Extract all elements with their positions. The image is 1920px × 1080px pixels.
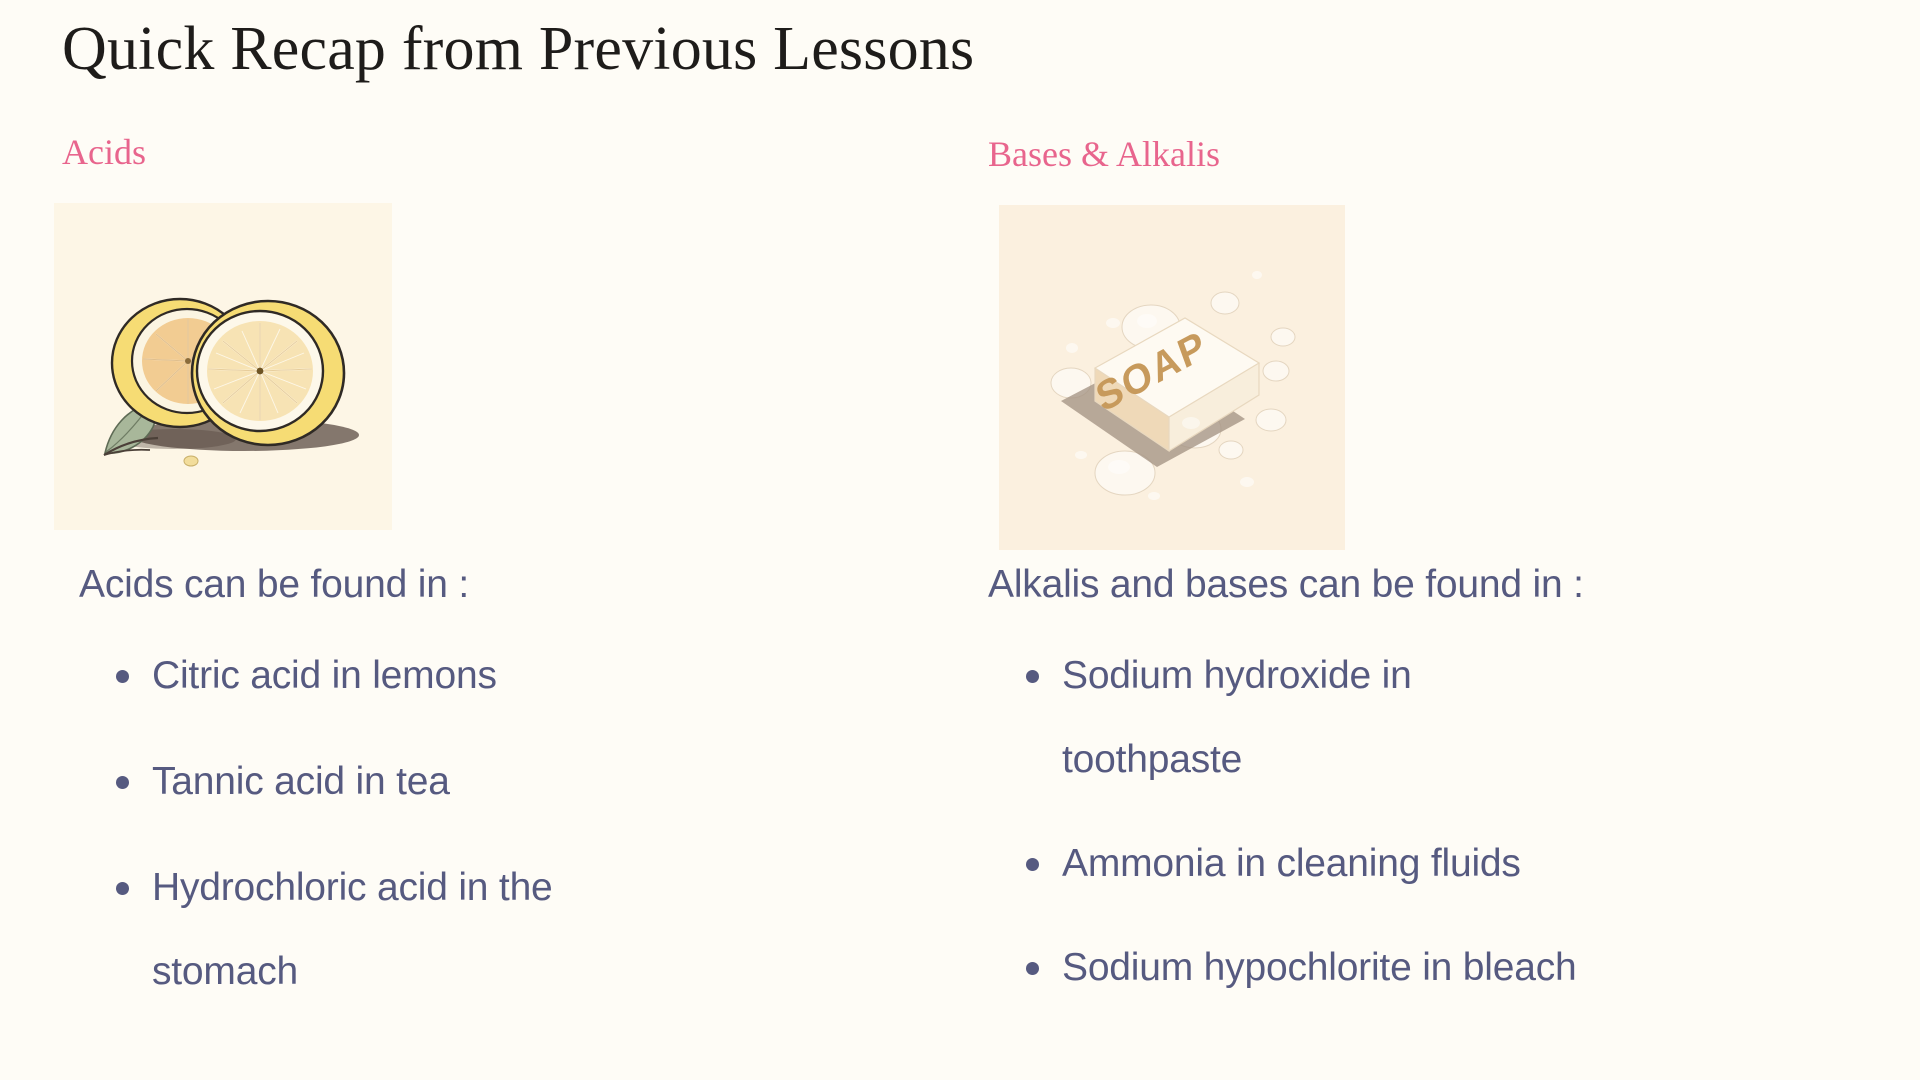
list-item-label: Sodium hypochlorite in bleach [1062, 946, 1577, 989]
column-acids: Acids [0, 0, 960, 1080]
bullet-icon [116, 882, 129, 895]
bullet-icon [1026, 962, 1039, 975]
list-item: Sodium hypochlorite in bleach [1020, 926, 1720, 1010]
list-item: Citric acid in lemons [110, 634, 670, 718]
bullet-icon [116, 670, 129, 683]
acids-list: Citric acid in lemons Tannic acid in tea… [110, 634, 670, 1036]
column-heading-acids: Acids [62, 131, 146, 173]
bases-alkalis-list: Sodium hydroxide in toothpaste Ammonia i… [1020, 634, 1720, 1030]
list-item: Sodium hydroxide in toothpaste [1020, 634, 1720, 802]
bullet-icon [1026, 670, 1039, 683]
lead-text-acids: Acids can be found in : [79, 563, 469, 607]
soap-illustration: SOAP [999, 205, 1345, 550]
bullet-icon [1026, 858, 1039, 871]
list-item-label: Hydrochloric acid in the stomach [152, 846, 582, 1014]
list-item-label: Citric acid in lemons [152, 654, 497, 697]
list-item: Tannic acid in tea [110, 740, 670, 824]
lead-text-bases-alkalis: Alkalis and bases can be found in : [988, 563, 1584, 607]
list-item-label: Sodium hydroxide in toothpaste [1062, 634, 1432, 802]
bullet-icon [116, 776, 129, 789]
list-item-label: Tannic acid in tea [152, 760, 450, 803]
list-item: Ammonia in cleaning fluids [1020, 822, 1720, 906]
column-heading-bases-alkalis: Bases & Alkalis [988, 133, 1220, 175]
lemon-illustration [54, 203, 392, 530]
list-item: Hydrochloric acid in the stomach [110, 846, 670, 1014]
column-bases-alkalis: Bases & Alkalis [960, 0, 1920, 1080]
list-item-label: Ammonia in cleaning fluids [1062, 842, 1521, 885]
